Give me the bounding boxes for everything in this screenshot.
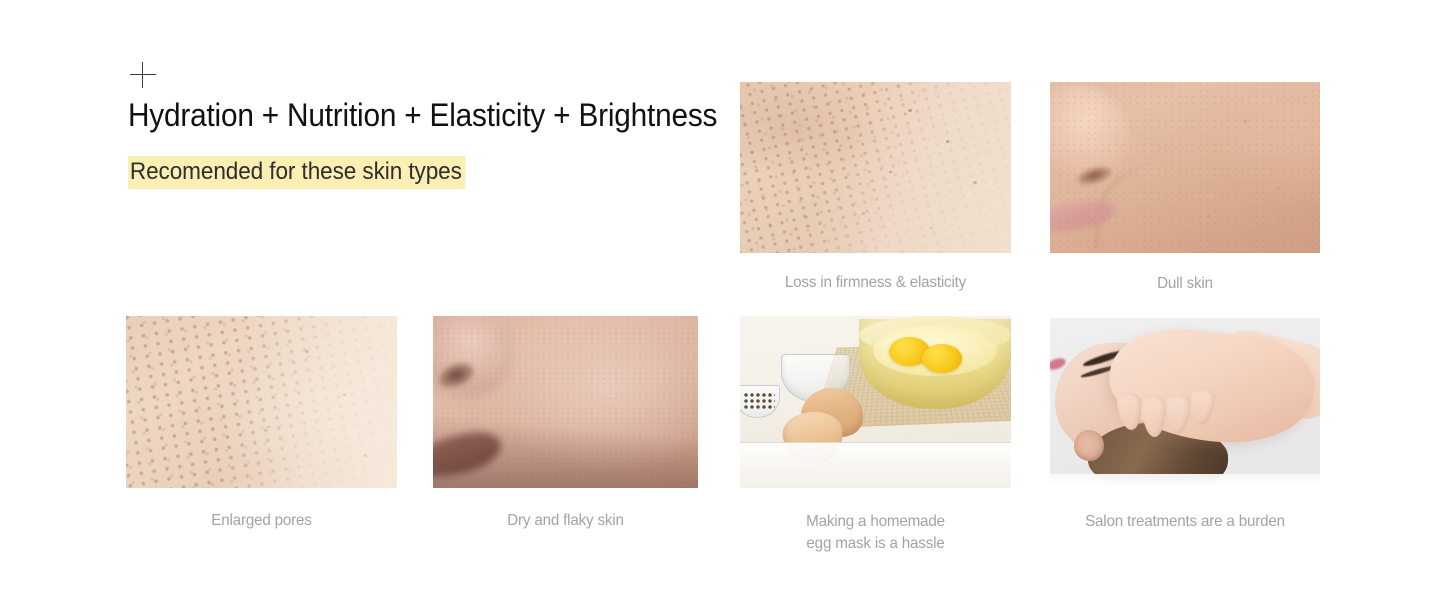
photo-dull-skin [1050,82,1320,253]
photo-dry-flaky-skin [433,316,698,488]
plus-icon [130,62,156,88]
egg-yolk [922,344,963,373]
caption-loss-in-firmness: Loss in firmness & elasticity [747,272,1004,294]
photo-salon-treatments [1050,318,1320,488]
egg-mask-scene [740,316,1011,488]
photo-enlarged-pores [126,316,397,488]
caption-enlarged-pores: Enlarged pores [133,510,390,532]
page-title: Hydration + Nutrition + Elasticity + Bri… [128,98,686,134]
headline-block: Hydration + Nutrition + Elasticity + Bri… [128,62,728,189]
salon-treatment-scene [1050,318,1320,488]
dull-skin-face [1050,82,1320,253]
skin-texture-pores [126,316,397,488]
highlighted-subtitle: Recomended for these skin types [128,156,466,189]
skin-texture-firmness [740,82,1011,253]
caption-dull-skin: Dull skin [1057,273,1314,295]
caption-homemade-egg-mask: Making a homemade egg mask is a hassle [747,511,1004,554]
caption-salon-treatments: Salon treatments are a burden [1057,511,1314,533]
caption-dry-flaky-skin: Dry and flaky skin [440,510,692,532]
dry-skin-face [433,316,698,488]
photo-homemade-egg-mask [740,316,1011,488]
subtitle-wrapper: Recomended for these skin types [128,156,728,189]
photo-loss-in-firmness [740,82,1011,253]
